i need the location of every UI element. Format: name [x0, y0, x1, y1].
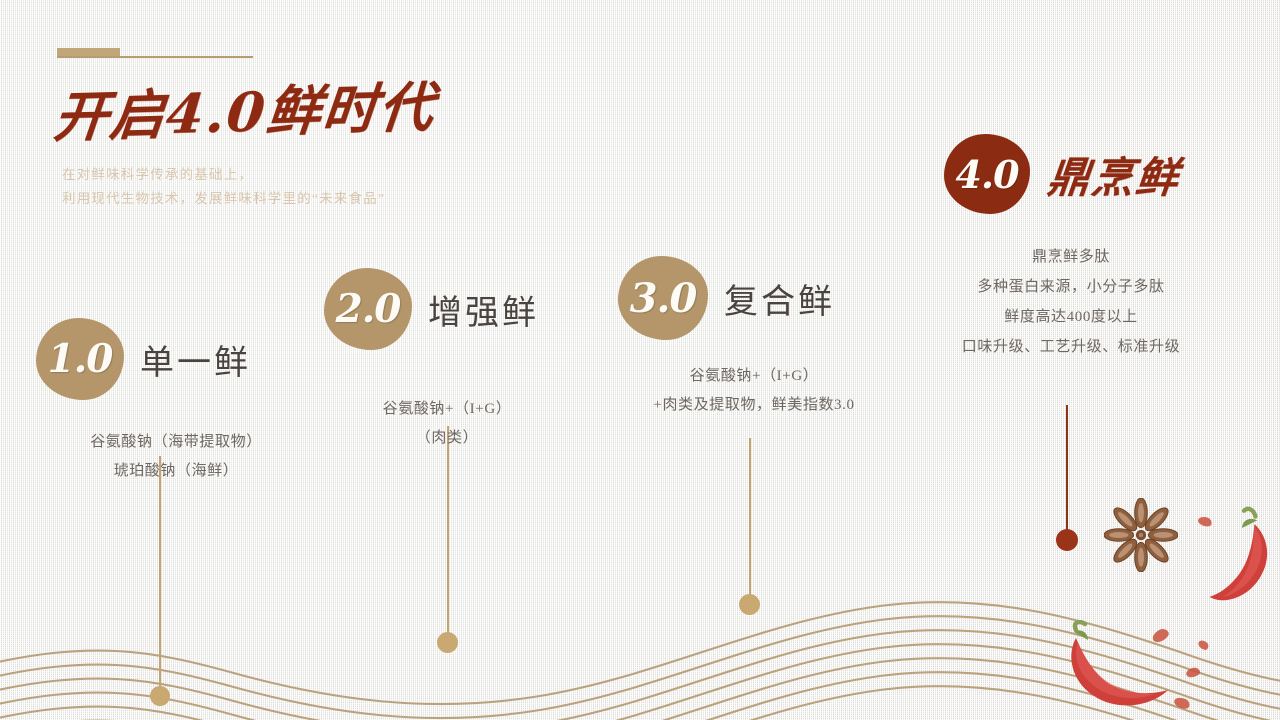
connector-line-stage-4 [1066, 405, 1068, 538]
chili-pepper-icon-right [1200, 505, 1280, 615]
star-anise-icon [1104, 498, 1178, 572]
stage-1-desc-line-2: 琥珀酸钠（海鲜） [26, 457, 326, 486]
stage-4-desc-line-1: 鼎烹鲜多肽 [916, 242, 1226, 272]
stage-block-3: 3.0 复合鲜 [618, 256, 835, 340]
stage-2-heading: 2.0 增强鲜 [324, 268, 539, 350]
stage-1-heading: 1.0 单一鲜 [36, 318, 251, 400]
connector-line-stage-3 [749, 438, 751, 604]
stage-4-desc-line-4: 口味升级、工艺升级、标准升级 [916, 332, 1226, 362]
accent-rule-thin-line [57, 56, 253, 58]
chili-flake-2 [1150, 627, 1170, 645]
stage-1-name: 单一鲜 [140, 335, 251, 384]
chili-flake-1 [1197, 515, 1213, 528]
stage-4-desc-line-2: 多种蛋白来源，小分子多肽 [916, 272, 1226, 302]
chili-flake-4 [1185, 667, 1201, 679]
stage-2-desc-line-1: 谷氨酸钠+（I+G） [322, 395, 572, 424]
page-subtitle: 在对鲜味科学传承的基础上， 利用现代生物技术，发展鲜味科学里的“未来食品” [62, 163, 385, 211]
connector-line-stage-1 [159, 456, 161, 694]
stage-1-version-label: 1.0 [48, 336, 113, 382]
chili-flake-3 [1197, 638, 1211, 651]
stage-block-1: 1.0 单一鲜 [36, 318, 251, 400]
stage-3-version-label: 3.0 [630, 275, 697, 322]
timeline-node-stage-1 [150, 686, 170, 706]
stage-3-version-badge: 3.0 [618, 256, 708, 340]
subtitle-line-2: 利用现代生物技术，发展鲜味科学里的“未来食品” [62, 187, 385, 211]
stage-3-name: 复合鲜 [724, 274, 835, 323]
timeline-node-stage-3 [739, 594, 760, 615]
stage-2-version-label: 2.0 [336, 286, 401, 332]
wave-pattern-decoration [0, 500, 1280, 720]
title-accent-rule [57, 48, 253, 58]
timeline-node-stage-2 [437, 632, 458, 653]
stage-2-description: 谷氨酸钠+（I+G） （肉类） [322, 395, 572, 453]
chili-flake-5 [1173, 695, 1192, 710]
stage-4-version-label: 4.0 [955, 152, 1018, 197]
stage-4-desc-line-3: 鲜度高达400度以上 [916, 302, 1226, 332]
connector-line-stage-2 [447, 426, 449, 642]
stage-block-2: 2.0 增强鲜 [324, 268, 539, 350]
stage-4-description: 鼎烹鲜多肽 多种蛋白来源，小分子多肽 鲜度高达400度以上 口味升级、工艺升级、… [916, 242, 1226, 362]
stage-4-version-badge: 4.0 [944, 134, 1030, 214]
stage-block-4: 4.0 鼎烹鲜 [944, 134, 1180, 214]
stage-3-desc-line-1: 谷氨酸钠+（I+G） [604, 362, 904, 391]
stage-1-version-badge: 1.0 [36, 318, 124, 400]
page-title: 开启4.0鲜时代 [51, 63, 440, 153]
stage-3-description: 谷氨酸钠+（I+G） +肉类及提取物，鲜美指数3.0 [604, 362, 904, 420]
stage-3-desc-line-2: +肉类及提取物，鲜美指数3.0 [604, 391, 904, 420]
subtitle-line-1: 在对鲜味科学传承的基础上， [62, 163, 385, 187]
slide-canvas: 开启4.0鲜时代 在对鲜味科学传承的基础上， 利用现代生物技术，发展鲜味科学里的… [0, 0, 1280, 720]
stage-2-name: 增强鲜 [428, 285, 539, 334]
stage-4-name: 鼎烹鲜 [1045, 144, 1183, 205]
stage-1-desc-line-1: 谷氨酸钠（海带提取物） [26, 428, 326, 457]
stage-1-description: 谷氨酸钠（海带提取物） 琥珀酸钠（海鲜） [26, 428, 326, 486]
stage-3-heading: 3.0 复合鲜 [618, 256, 835, 340]
stage-4-heading: 4.0 鼎烹鲜 [944, 134, 1180, 214]
stage-2-desc-line-2: （肉类） [322, 424, 572, 453]
stage-2-version-badge: 2.0 [324, 268, 412, 350]
timeline-node-stage-4 [1056, 529, 1078, 551]
